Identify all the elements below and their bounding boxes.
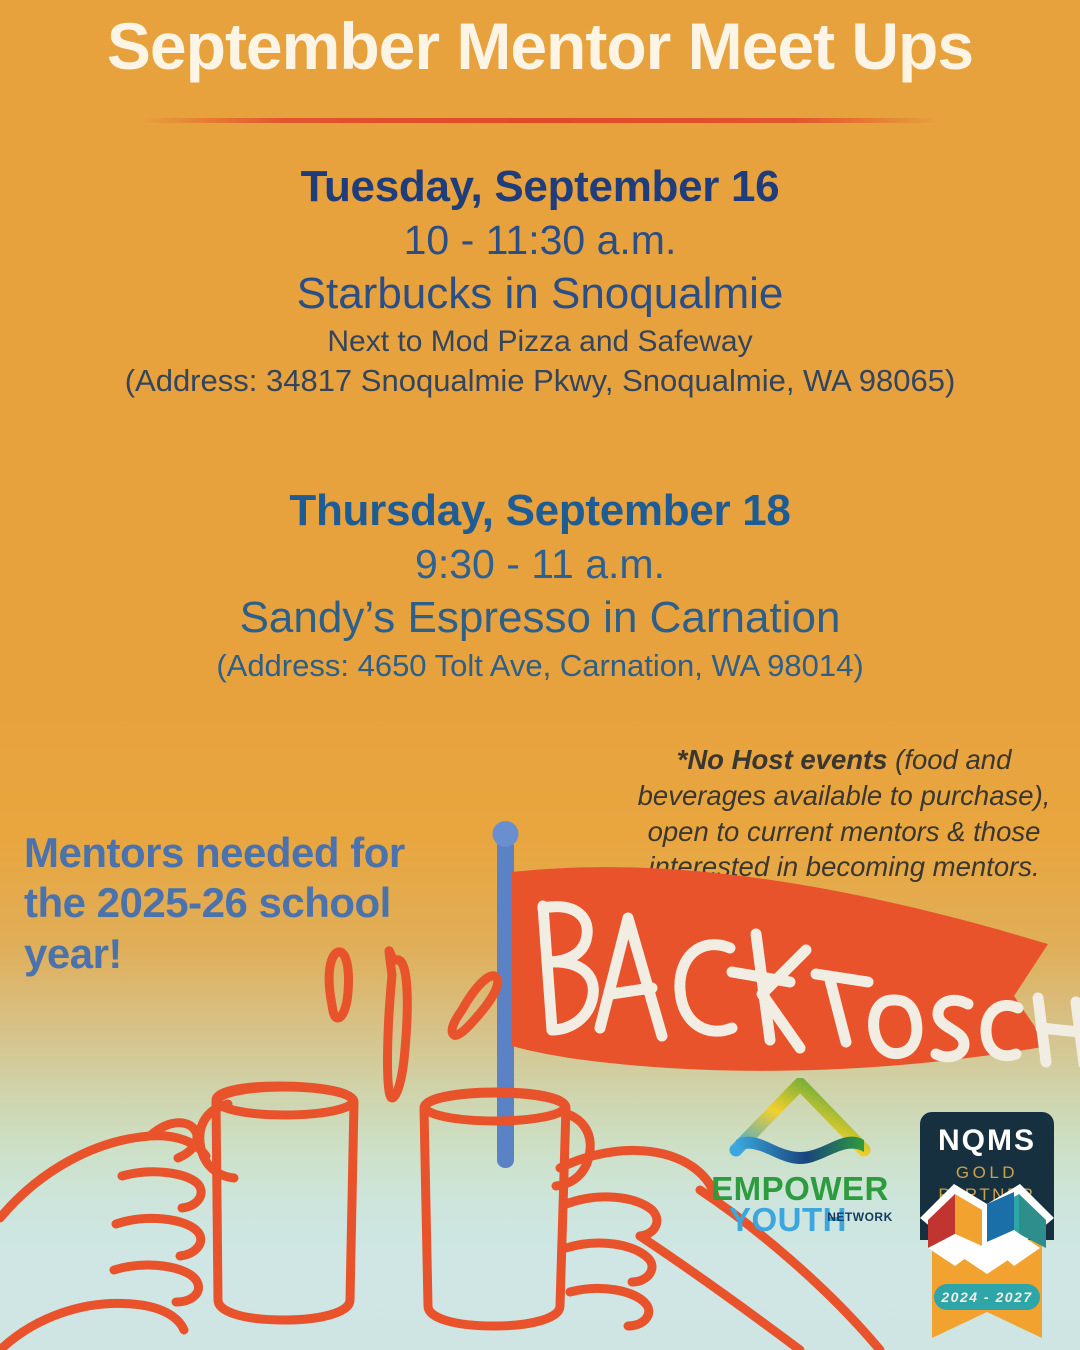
empower-youth-network-logo: EMPOWER YOUTH NETWORK (700, 1078, 900, 1248)
right-mug (424, 1092, 590, 1326)
pennant-text (543, 906, 1080, 1064)
pennant-pole (493, 821, 519, 1168)
wave-icon (736, 1137, 864, 1164)
nqms-gold-partner-badge: NQMS GOLD PARTNER 2024 - 2027 (908, 1106, 1066, 1344)
event-1-address: (Address: 34817 Snoqualmie Pkwy, Snoqual… (0, 361, 1080, 402)
event-2-place: Sandy’s Espresso in Carnation (0, 590, 1080, 645)
logo-network-text: NETWORK (827, 1210, 893, 1224)
mentors-needed-callout: Mentors needed for the 2025-26 school ye… (24, 828, 444, 979)
badge-year-pill: 2024 - 2027 (934, 1284, 1040, 1310)
event-1-sub: Next to Mod Pizza and Safeway (0, 322, 1080, 362)
badge-subtitle-gold: GOLD (956, 1163, 1018, 1182)
badge-years: 2024 - 2027 (940, 1289, 1032, 1305)
event-2-time: 9:30 - 11 a.m. (0, 538, 1080, 590)
page-title: September Mentor Meet Ups (0, 8, 1080, 86)
event-1-day: Tuesday, September 16 (0, 160, 1080, 214)
left-hand (0, 1123, 206, 1350)
event-block-1: Tuesday, September 16 10 - 11:30 a.m. St… (0, 160, 1080, 402)
event-1-time: 10 - 11:30 a.m. (0, 214, 1080, 266)
event-2-address: (Address: 4650 Tolt Ave, Carnation, WA 9… (0, 646, 1080, 687)
no-host-note-lead: *No Host events (677, 744, 888, 775)
poster-canvas: September Mentor Meet Ups Tuesday, Septe… (0, 0, 1080, 1350)
title-divider (140, 118, 940, 123)
event-1-place: Starbucks in Snoqualmie (0, 266, 1080, 321)
event-2-day: Thursday, September 18 (0, 484, 1080, 538)
no-host-note: *No Host events (food and beverages avai… (634, 742, 1054, 885)
pennant-flag (512, 867, 1080, 1071)
badge-title: NQMS (938, 1124, 1036, 1157)
event-block-2: Thursday, September 18 9:30 - 11 a.m. Sa… (0, 484, 1080, 686)
left-mug (200, 1086, 354, 1320)
